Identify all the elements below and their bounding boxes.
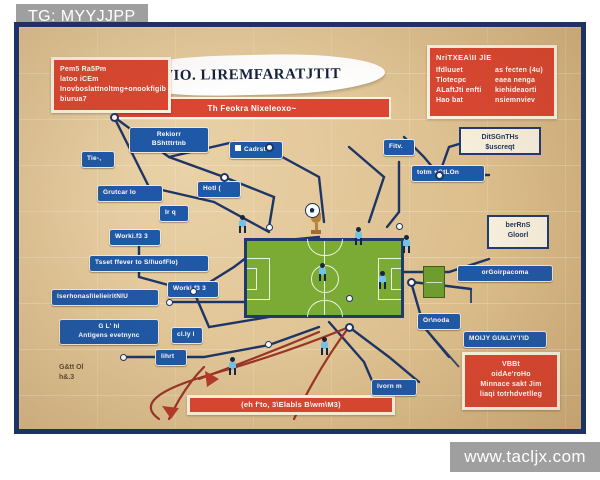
red-note-top-left: Pem5 Ra5Pm latoo iCEm Inovboslattnoltmg+… (51, 57, 171, 113)
mini-pitch-line (426, 282, 442, 283)
blue-label-grutear[interactable]: Grutcar lo (97, 185, 163, 202)
top-arc (307, 239, 343, 256)
note-line: Inovboslattnoltmg+onookfigib (60, 85, 162, 95)
note-line: as fecten (4u) (495, 66, 548, 76)
white-box-line: berRnS (494, 221, 542, 231)
connector-node[interactable] (190, 288, 197, 295)
player-legs (229, 368, 236, 375)
blue-label-antigens[interactable]: G L' hl Antigens evetnync (59, 319, 159, 345)
white-box-line: $uscreqt (466, 143, 534, 153)
square-icon (235, 145, 241, 151)
note-line: Minnace sakt Jim (471, 380, 551, 390)
white-box-right-upper: DitSGnTHs $uscreqt (459, 127, 541, 155)
blue-label-moity[interactable]: MOIJY GUkLIY'I'lD (463, 331, 547, 348)
player-legs (319, 274, 326, 281)
connector-node[interactable] (220, 173, 229, 182)
player-figure (317, 263, 328, 281)
free-text-line: h&.3 (59, 373, 84, 383)
free-text-getoi: G&tt Ol h&.3 (59, 363, 84, 383)
bottom-arc (307, 300, 343, 317)
connector-node[interactable] (346, 295, 353, 302)
poster-frame: WIO. LIREMFARATJTIT Th Feokra Nixeleoxo~… (14, 22, 586, 434)
note-line: liaqi totrhdvetlleg (471, 390, 551, 400)
player-figure (227, 357, 238, 375)
blue-label-lhr[interactable]: lihrt (155, 349, 187, 366)
note-line: Hao bat (436, 96, 489, 106)
blue-label-ir[interactable]: Ir q (159, 205, 189, 222)
blue-label-tset-tewer[interactable]: Tsset ffever to S/l\uofFlo) (89, 255, 209, 272)
connector-node[interactable] (345, 323, 354, 332)
connector-node[interactable] (166, 299, 173, 306)
player-legs (321, 348, 328, 355)
red-banner-bottom: (eh f'to, 3\Elabls B\wm\M3) (187, 395, 395, 415)
note-line: Tlotecpc (436, 76, 489, 86)
blue-label-ornodr[interactable]: Or\noda (417, 313, 461, 330)
player-figure (353, 227, 364, 245)
blue-label-letra-action[interactable]: totm +GtLOn (411, 165, 485, 182)
note-line: Ifdluuet (436, 66, 489, 76)
player-legs (355, 238, 362, 245)
white-box-line: DitSGnTHs (466, 133, 534, 143)
trophy-base (311, 230, 321, 234)
note-line: oidAe'roHo (471, 370, 551, 380)
connector-node[interactable] (120, 354, 127, 361)
note-line: eaea nenga (495, 76, 548, 86)
goal-area-left (247, 268, 257, 290)
blue-label-ivorm[interactable]: Ivorn m (371, 379, 417, 396)
connector-node[interactable] (435, 171, 444, 180)
player-figure (401, 235, 412, 253)
connector-node[interactable] (396, 223, 403, 230)
blue-label-rekiorr[interactable]: Rekiorr BShtttrtnb (129, 127, 209, 153)
note-line: VBBt (471, 360, 551, 370)
player-legs (379, 282, 386, 289)
note-line: latoo iCEm (60, 75, 162, 85)
connector-node[interactable] (110, 113, 119, 122)
note-line: Pem5 Ra5Pm (60, 65, 162, 75)
player-figure (319, 337, 330, 355)
note-line: nsiemnviev (495, 96, 548, 106)
player-legs (403, 246, 410, 253)
white-box-line: Gloorl (494, 231, 542, 241)
poster-canvas: WIO. LIREMFARATJTIT Th Feokra Nixeleoxo~… (19, 27, 581, 429)
label-line: Antigens evetnync (65, 332, 153, 341)
goal-area-right (391, 268, 401, 290)
red-note-bottom-right: VBBt oidAe'roHo Minnace sakt Jim liaqi t… (462, 352, 560, 410)
football-pitch (244, 238, 404, 318)
player-legs (239, 226, 246, 233)
player-figure (237, 215, 248, 233)
blue-label-cly[interactable]: cl.ly l (171, 327, 203, 344)
note-line: kiehideaorti (495, 86, 548, 96)
blue-label-work[interactable]: Worki.f3 3 (109, 229, 161, 246)
free-text-line: G&tt Ol (59, 363, 84, 373)
player-figure (377, 271, 388, 289)
label-line: BShtttrtnb (135, 140, 203, 149)
red-note-top-right: NriTXEA\II JlE Ifdluuet Tlotecpc ALaftJt… (427, 45, 557, 119)
note-line: ALaftJti enfti (436, 86, 489, 96)
connector-node[interactable] (265, 341, 272, 348)
white-box-right-mid: berRnS Gloorl (487, 215, 549, 249)
blue-label-ischonasl[interactable]: Iserhonasl\lelieiritNlU (51, 289, 159, 306)
connector-node[interactable] (265, 143, 274, 152)
note-line: biurua7 (60, 95, 162, 105)
watermark-bottom-right: www.tacljx.com (450, 442, 600, 472)
blue-label-fitv[interactable]: Fitv. (383, 139, 415, 156)
note-heading: NriTXEA\II JlE (436, 53, 548, 64)
trophy-stem (315, 223, 318, 230)
label-line: Rekiorr (135, 131, 203, 140)
blue-label-tie[interactable]: Tie-, (81, 151, 115, 168)
connector-node[interactable] (266, 224, 273, 231)
connector-node[interactable] (407, 278, 416, 287)
football-icon (305, 203, 320, 218)
mini-pitch-icon (423, 266, 445, 298)
blue-label-content[interactable]: Cadrstrd (229, 141, 283, 159)
blue-label-orcoipazconta[interactable]: orGoirpacoma (457, 265, 553, 282)
label-line: G L' hl (65, 323, 153, 332)
blue-label-hots[interactable]: Hotl ( (197, 181, 241, 198)
page-title: WIO. LIREMFARATJTIT (158, 66, 341, 85)
